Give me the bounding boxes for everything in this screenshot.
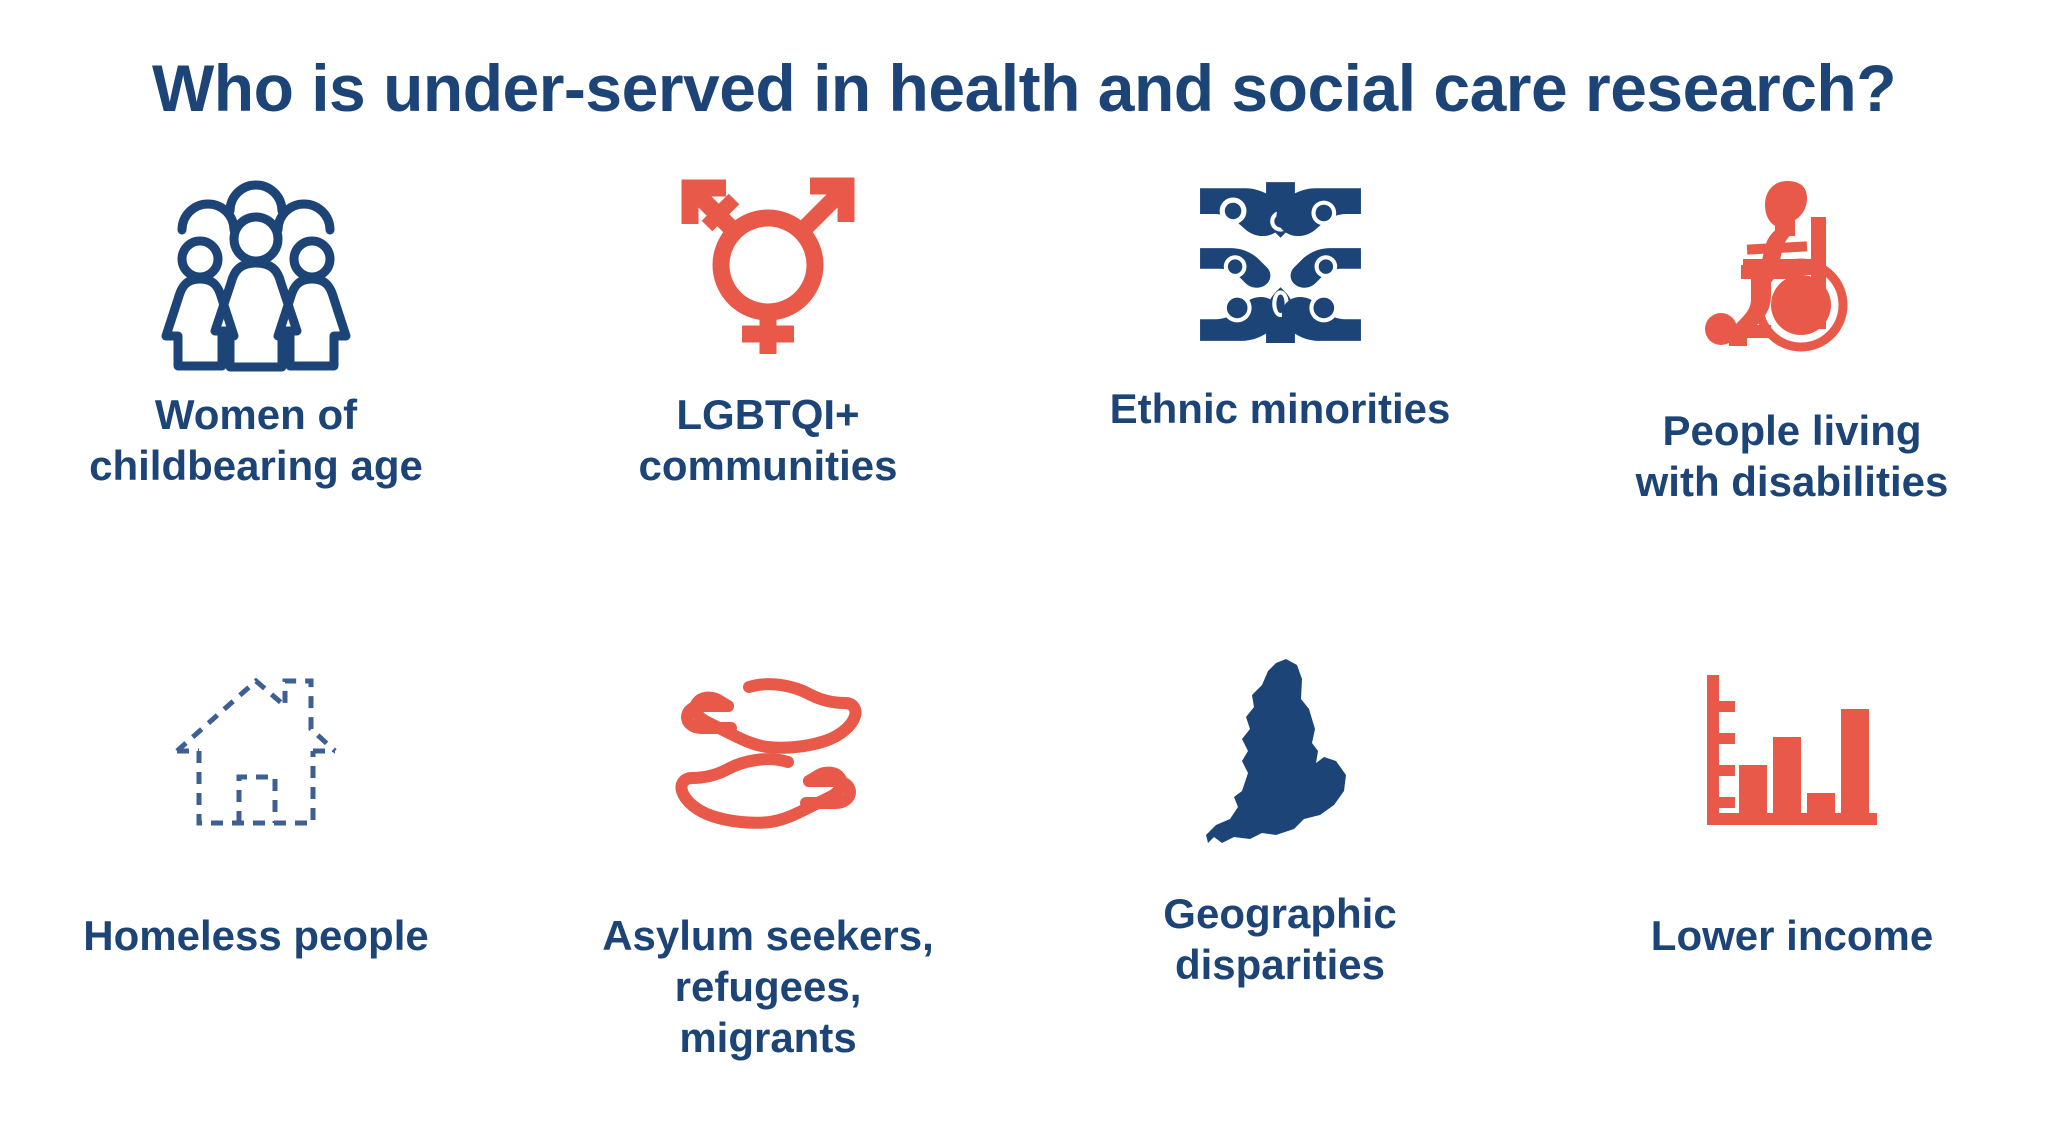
infographic-page: Who is under-served in health and social…: [0, 0, 2048, 1127]
category-item-lower-income[interactable]: Lower income: [1536, 640, 2048, 1120]
category-item-geographic-disparities[interactable]: Geographic disparities: [1024, 640, 1536, 1120]
category-item-homeless-people[interactable]: Homeless people: [0, 640, 512, 1120]
category-item-asylum-seekers-refugees-migrants[interactable]: Asylum seekers, refugees, migrants: [512, 640, 1024, 1120]
category-item-lgbtqi-communities[interactable]: LGBTQI+ communities: [512, 160, 1024, 640]
category-label: Geographic disparities: [1163, 888, 1396, 990]
transgender-symbol-icon: [676, 160, 861, 365]
category-item-women-childbearing-age[interactable]: Women of childbearing age: [0, 160, 512, 640]
category-label: Women of childbearing age: [89, 389, 423, 491]
dashed-house-icon: [171, 640, 341, 870]
hands-circle-icon: [1198, 160, 1363, 365]
page-title: Who is under-served in health and social…: [0, 52, 2048, 126]
three-women-figures-icon: [156, 160, 356, 365]
category-item-ethnic-minorities[interactable]: Ethnic minorities: [1024, 160, 1536, 640]
category-label: Homeless people: [83, 910, 428, 961]
open-hands-icon: [671, 640, 866, 870]
england-map-icon: [1205, 640, 1355, 870]
category-label: Lower income: [1651, 910, 1933, 961]
wheelchair-user-icon: [1705, 160, 1880, 365]
category-grid: Women of childbearing age: [0, 160, 2048, 1120]
bar-chart-icon: [1705, 640, 1880, 870]
category-label: Asylum seekers, refugees, migrants: [588, 910, 948, 1064]
category-label: Ethnic minorities: [1110, 383, 1451, 434]
category-item-people-with-disabilities[interactable]: People living with disabilities: [1536, 160, 2048, 640]
category-label: People living with disabilities: [1636, 405, 1949, 507]
category-label: LGBTQI+ communities: [638, 389, 897, 491]
